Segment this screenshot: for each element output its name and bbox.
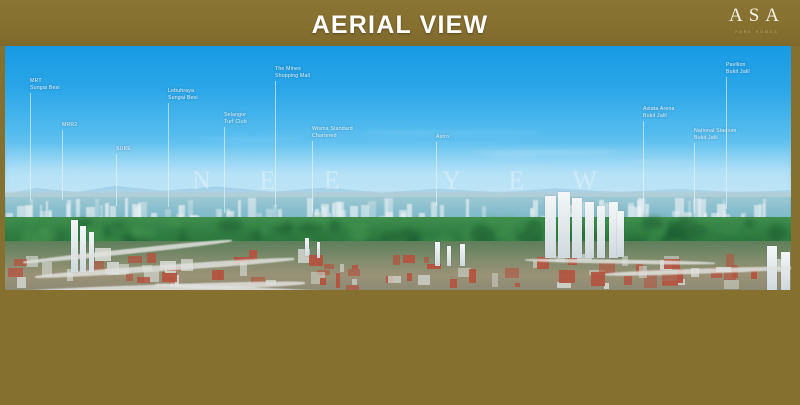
cloud-streak <box>498 165 555 168</box>
lowrise-roof <box>662 273 678 284</box>
leader-line-astro <box>436 142 437 206</box>
tree-cluster <box>262 226 268 234</box>
highrise-tower <box>781 252 790 290</box>
cloud-streak <box>470 150 617 155</box>
tree-cluster <box>719 228 739 234</box>
tree-cluster <box>111 222 126 228</box>
landmark-label-line1: Astro <box>436 134 449 141</box>
landmark-label-line1: Lebuhraya <box>168 88 198 95</box>
highrise-tower <box>435 242 440 266</box>
landmark-label-line2: Bukit Jalil <box>726 69 750 76</box>
lowrise-roof <box>624 276 632 285</box>
tree-cluster <box>329 220 341 233</box>
tree-cluster <box>500 218 515 228</box>
lowrise-roof <box>137 277 149 283</box>
landmark-label-wisma-standard-chartered: Wisma StandardChartered <box>312 126 353 139</box>
tree-cluster <box>28 220 35 226</box>
leader-line-axiata-arena <box>643 121 644 211</box>
landmark-label-selangor-turf-club: SelangorTurf Club <box>224 112 247 125</box>
landmark-label-pavilion-bukit-jalil: PavilionBukit Jalil <box>726 62 750 75</box>
leader-line-wisma-standard-chartered <box>312 141 313 213</box>
tree-cluster <box>768 224 786 242</box>
highrise-tower <box>572 198 582 258</box>
tree-cluster <box>744 219 755 228</box>
lowrise-roof <box>320 278 326 285</box>
lowrise-roof <box>515 283 520 287</box>
lowrise-roof <box>126 274 134 282</box>
leader-line-pavilion-bukit-jalil <box>726 77 727 209</box>
brand-logo-mark: ASA <box>724 6 790 25</box>
landmark-label-line1: SUKE <box>116 146 131 153</box>
leader-line-selangor-turf-club <box>224 127 225 213</box>
highrise-tower <box>460 244 465 266</box>
leader-line-suke <box>116 154 117 206</box>
lowrise-roof <box>147 253 157 262</box>
lowrise-roof <box>218 270 225 280</box>
landmark-label-suke: SUKE <box>116 146 131 153</box>
landmark-label-line1: Selangor <box>224 112 247 119</box>
lowrise-roof <box>340 264 344 272</box>
highrise-tower <box>617 211 624 257</box>
lowrise-roof <box>169 276 176 284</box>
lowrise-roof <box>469 269 476 283</box>
lowrise-roof <box>336 273 340 287</box>
tree-cluster <box>677 223 706 237</box>
lowrise-roof <box>393 255 400 265</box>
lowrise-roof <box>450 279 457 288</box>
landmark-label-line1: National Stadium <box>694 128 736 135</box>
tree-cluster <box>104 224 110 239</box>
lowrise-roof <box>8 268 23 277</box>
aerial-view-slide: AERIAL VIEW ASA PARK HOMES MRTSungai Bes… <box>0 0 800 405</box>
landmark-label-lebuhraya-sungai-besi: LebuhrayaSungai Besi <box>168 88 198 101</box>
landmark-label-line2: Shopping Mall <box>275 73 310 80</box>
landmark-label-astro: Astro <box>436 134 449 141</box>
aerial-photo: MRTSungai BesiMRR2SUKELebuhrayaSungai Be… <box>5 46 791 290</box>
landmark-label-line1: Pavilion <box>726 62 750 69</box>
leader-line-mrr2 <box>62 130 63 200</box>
leader-line-lebuhraya-sungai-besi <box>168 103 169 207</box>
brand-logo: ASA PARK HOMES <box>724 6 790 40</box>
highrise-tower <box>80 226 86 272</box>
highrise-tower <box>545 196 556 258</box>
landmark-label-the-mines-mall: The MinesShopping Mall <box>275 66 310 79</box>
lowrise-roof <box>128 256 142 263</box>
lowrise-roof <box>17 277 26 288</box>
tree-cluster <box>130 227 156 241</box>
landmark-label-line1: MRR2 <box>62 122 77 129</box>
header-bar: AERIAL VIEW ASA PARK HOMES <box>0 0 800 46</box>
tree-cluster <box>347 223 373 229</box>
landmark-label-line2: Turf Club <box>224 119 247 126</box>
highrise-tower <box>558 192 570 258</box>
lowrise-roof <box>559 270 575 283</box>
lowrise-roof <box>557 282 571 288</box>
highrise-tower <box>317 242 320 258</box>
landmark-label-mrr2: MRR2 <box>62 122 77 129</box>
leader-line-mrt-sungai-besi <box>30 93 31 201</box>
highrise-tower <box>71 220 78 272</box>
highrise-tower <box>447 246 451 266</box>
landmark-label-line1: MRT <box>30 78 60 85</box>
lowrise-roof <box>346 285 360 290</box>
leader-line-the-mines-mall <box>275 81 276 207</box>
landmark-label-line2: Sungai Besi <box>30 85 60 92</box>
tree-cluster <box>298 223 324 233</box>
tree-cluster <box>217 219 242 233</box>
landmark-label-national-stadium: National StadiumBukit Jalil <box>694 128 736 141</box>
landmark-label-line1: Axiata Arena <box>643 106 675 113</box>
landmark-label-line2: Chartered <box>312 133 353 140</box>
lowrise-roof <box>591 272 606 286</box>
lowrise-roof <box>348 269 360 276</box>
landmark-label-line2: Bukit Jalil <box>643 113 675 120</box>
landmark-label-line2: Sungai Besi <box>168 95 198 102</box>
lowrise-roof <box>424 257 430 263</box>
lowrise-roof <box>324 264 335 269</box>
lowrise-roof <box>724 280 739 289</box>
landmark-label-mrt-sungai-besi: MRTSungai Besi <box>30 78 60 91</box>
page-title: AERIAL VIEW <box>0 11 800 40</box>
tree-cluster <box>283 222 292 232</box>
landmark-label-line2: Bukit Jalil <box>694 135 736 142</box>
aerial-photo-canvas: MRTSungai BesiMRR2SUKELebuhrayaSungai Be… <box>5 46 791 290</box>
lowrise-roof <box>418 275 429 286</box>
lowrise-roof <box>492 273 499 287</box>
leader-line-national-stadium <box>694 143 695 213</box>
landmark-label-axiata-arena: Axiata ArenaBukit Jalil <box>643 106 675 119</box>
highrise-tower <box>597 206 605 258</box>
landmark-label-line1: Wisma Standard <box>312 126 353 133</box>
lowrise-roof <box>388 276 401 283</box>
tree-cluster <box>167 219 182 225</box>
lowrise-roof <box>403 255 416 263</box>
lowrise-roof <box>505 268 519 278</box>
brand-logo-subtitle: PARK HOMES <box>724 29 790 36</box>
lowrise-roof <box>407 273 411 281</box>
highrise-tower <box>305 238 309 256</box>
highrise-tower <box>585 202 594 258</box>
footer-bar <box>0 290 800 405</box>
landmark-label-line1: The Mines <box>275 66 310 73</box>
